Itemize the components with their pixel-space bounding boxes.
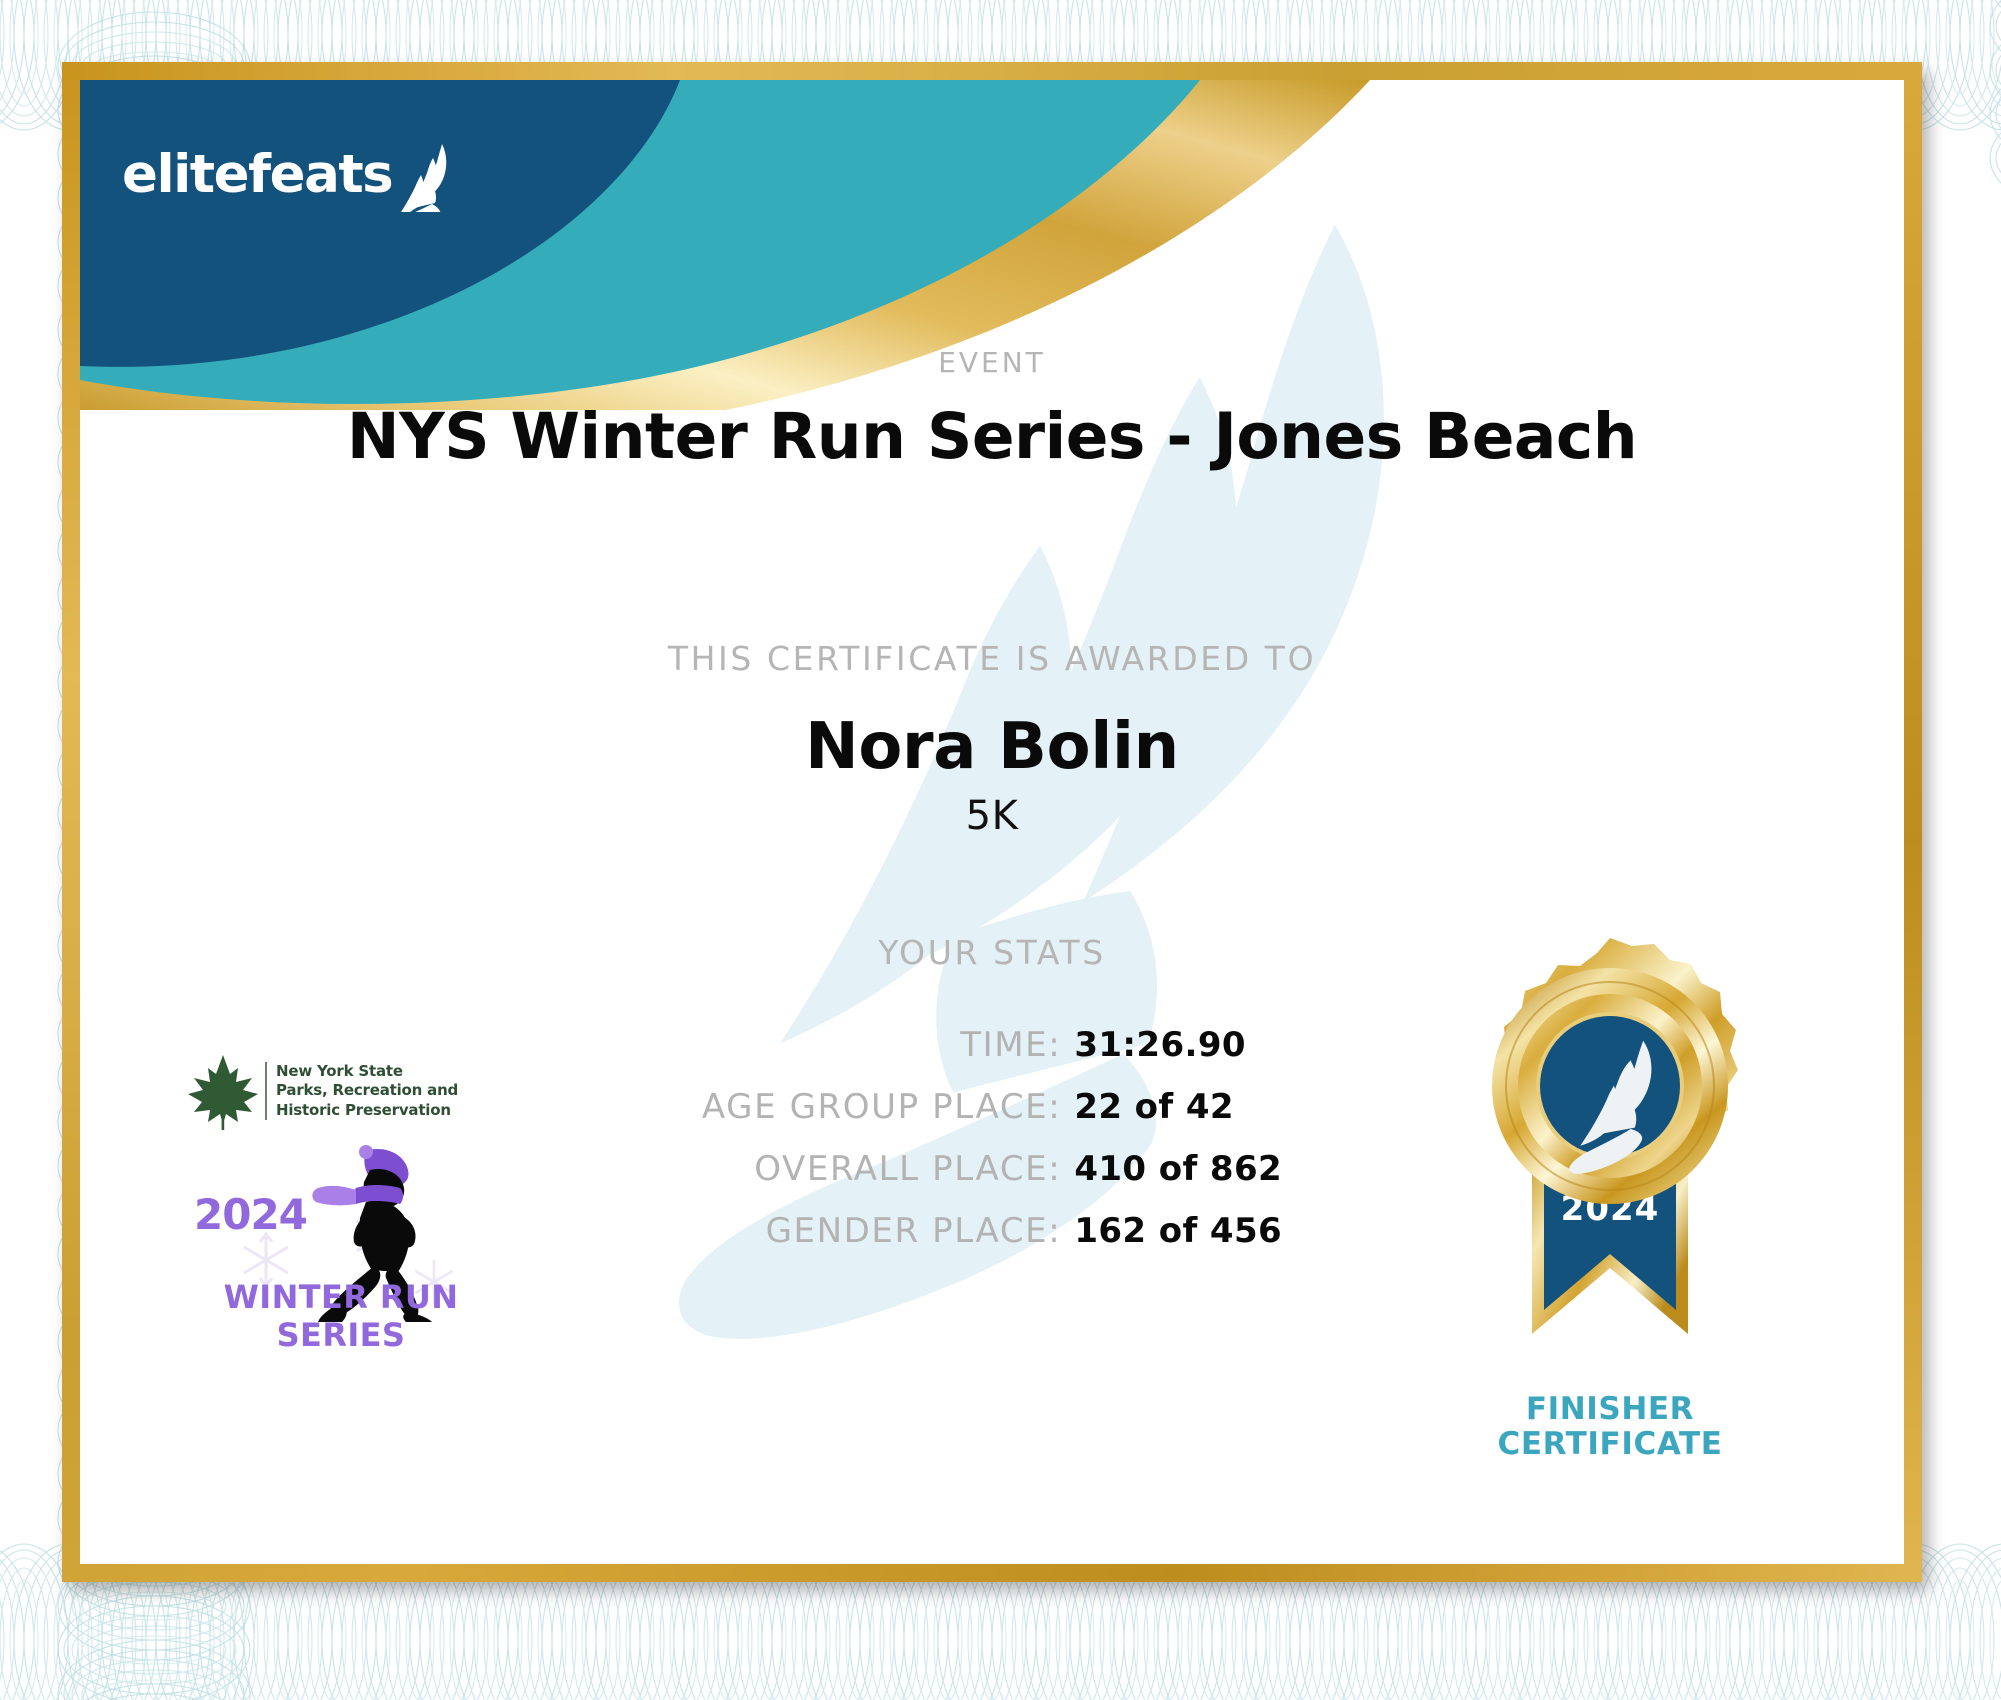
stats-table: TIME: 31:26.90 AGE GROUP PLACE: 22 of 42… xyxy=(702,1014,1282,1262)
stat-value-overall-place: 410 of 862 xyxy=(1074,1138,1282,1200)
recipient-name: Nora Bolin xyxy=(80,714,1904,781)
stat-value-time: 31:26.90 xyxy=(1074,1014,1282,1076)
finisher-certificate-caption: FINISHER CERTIFICATE xyxy=(1410,1392,1810,1461)
nys-parks-line1: New York State xyxy=(276,1062,458,1081)
finisher-line1: FINISHER xyxy=(1410,1392,1810,1427)
stat-label-age-group-place: AGE GROUP PLACE: xyxy=(702,1076,1074,1138)
brand-logo: elitefeats xyxy=(122,128,482,220)
event-title: NYS Winter Run Series - Jones Beach xyxy=(80,403,1904,471)
event-label: EVENT xyxy=(80,346,1904,379)
table-row: OVERALL PLACE: 410 of 862 xyxy=(702,1138,1282,1200)
winged-foot-icon xyxy=(394,142,456,212)
finisher-line2: CERTIFICATE xyxy=(1410,1427,1810,1462)
maple-leaf-icon xyxy=(186,1052,260,1130)
stat-value-gender-place: 162 of 456 xyxy=(1074,1200,1282,1262)
table-row: AGE GROUP PLACE: 22 of 42 xyxy=(702,1076,1282,1138)
gold-frame-border: elitefeats EVENT NYS Winter Run Series -… xyxy=(62,62,1922,1582)
awarded-to-label: THIS CERTIFICATE IS AWARDED TO xyxy=(80,639,1904,678)
certificate-page: elitefeats EVENT NYS Winter Run Series -… xyxy=(0,0,2001,1700)
partner-logos: New York State Parks, Recreation and His… xyxy=(186,1052,516,1352)
stat-value-age-group-place: 22 of 42 xyxy=(1074,1076,1282,1138)
table-row: TIME: 31:26.90 xyxy=(702,1014,1282,1076)
nys-parks-text: New York State Parks, Recreation and His… xyxy=(265,1062,458,1120)
nys-parks-line2: Parks, Recreation and xyxy=(276,1081,458,1100)
nys-parks-line3: Historic Preservation xyxy=(276,1101,458,1120)
stat-label-time: TIME: xyxy=(702,1014,1074,1076)
winter-run-series-logo: 2024 xyxy=(186,1144,496,1352)
race-distance: 5K xyxy=(80,793,1904,839)
table-row: GENDER PLACE: 162 of 456 xyxy=(702,1200,1282,1262)
nys-parks-logo: New York State Parks, Recreation and His… xyxy=(186,1052,516,1130)
certificate-sheet: elitefeats EVENT NYS Winter Run Series -… xyxy=(80,80,1904,1564)
winter-run-series-title: WINTER RUN SERIES xyxy=(186,1278,496,1354)
stat-label-gender-place: GENDER PLACE: xyxy=(702,1200,1074,1262)
finisher-seal: 2024 xyxy=(1410,938,1810,1461)
stat-label-overall-place: OVERALL PLACE: xyxy=(702,1138,1074,1200)
brand-wordmark: elitefeats xyxy=(122,148,392,201)
finisher-medal-icon: 2024 xyxy=(1460,938,1760,1388)
